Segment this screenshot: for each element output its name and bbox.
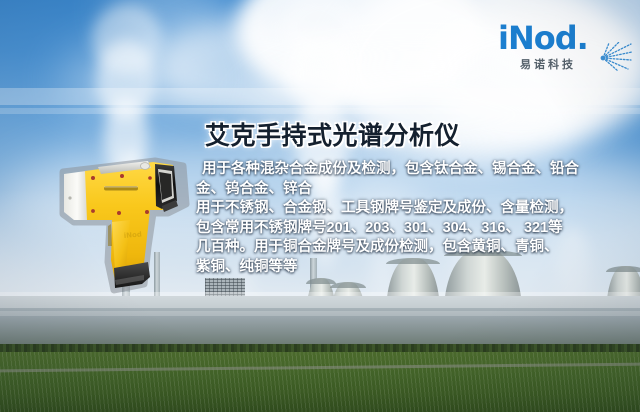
crop-fields bbox=[0, 352, 640, 412]
product-description: 用于各种混杂合金成份及检测，包含钛合金、锡合金、铅合 金、钨合金、锌合 用于不锈… bbox=[196, 160, 634, 277]
description-line: 几百种。用于铜合金牌号及成份检测，包含黄铜、青铜、 bbox=[196, 238, 634, 258]
analyzer-screw bbox=[117, 211, 121, 215]
analyzer-screw bbox=[120, 174, 124, 178]
analyzer-top-button bbox=[141, 163, 150, 170]
starburst-icon bbox=[600, 42, 634, 72]
analyzer-screw bbox=[148, 176, 152, 180]
analyzer-side-panel bbox=[64, 171, 88, 220]
description-line: 金、钨合金、锌合 bbox=[196, 180, 634, 200]
page-title: 艾克手持式光谱分析仪 bbox=[205, 116, 460, 152]
description-line: 包含常用不锈钢牌号201、203、301、304、316、 321等 bbox=[196, 219, 634, 239]
analyzer-body-brandmark: iNod bbox=[123, 230, 142, 240]
analyzer-vent-highlight bbox=[104, 186, 138, 188]
analyzer-illustration: iNod bbox=[52, 150, 212, 302]
handheld-xrf-analyzer: iNod bbox=[52, 150, 212, 302]
description-line: 用于各种混杂合金成份及检测，包含钛合金、锡合金、铅合 bbox=[196, 160, 634, 180]
analyzer-panel-screw bbox=[68, 196, 71, 199]
description-line: 用于不锈钢、合金钢、工具钢牌号鉴定及成份、含量检测， bbox=[196, 199, 634, 219]
analyzer-screw bbox=[145, 210, 149, 214]
description-line: 紫铜、纯铜等等 bbox=[196, 258, 634, 278]
product-banner: iNod iNod. 易诺科技 bbox=[0, 0, 640, 412]
analyzer-screw bbox=[91, 209, 95, 213]
brand-logo[interactable]: iNod. 易诺科技 bbox=[498, 22, 630, 78]
analyzer-screw bbox=[91, 176, 95, 180]
logo-wordmark-dot: . bbox=[577, 19, 588, 57]
logo-wordmark-text: iNod bbox=[498, 19, 577, 57]
